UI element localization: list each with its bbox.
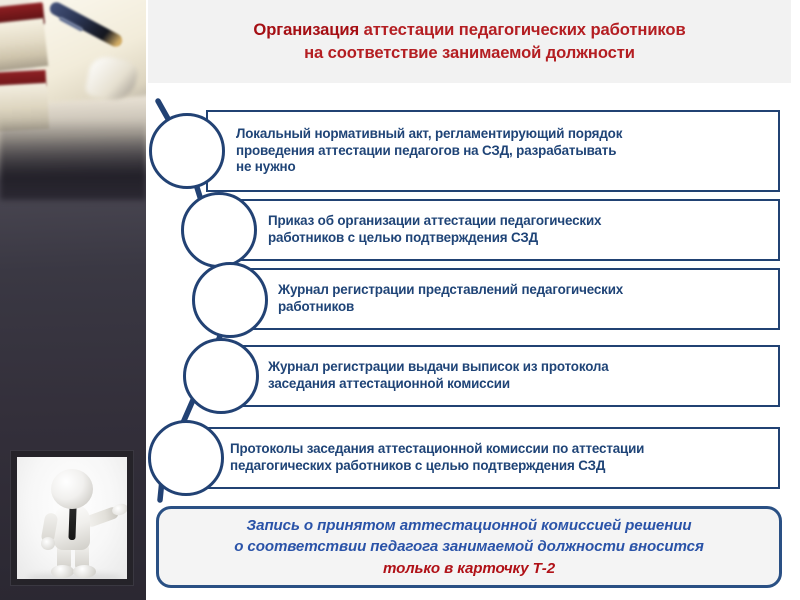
step-3-line-2: работников bbox=[278, 299, 623, 316]
footer-line-2: о соответствии педагога занимаемой должн… bbox=[234, 536, 704, 557]
step-text-1: Локальный нормативный акт, регламентирую… bbox=[236, 126, 622, 177]
step-box-3[interactable]: Журнал регистрации представлений педагог… bbox=[248, 268, 780, 330]
step-node-3[interactable] bbox=[192, 262, 268, 338]
figurine-image bbox=[17, 457, 127, 579]
desk-shadow-overlay bbox=[0, 120, 146, 200]
step-box-4[interactable]: Журнал регистрации выдачи выписок из про… bbox=[238, 345, 780, 407]
step-text-4: Журнал регистрации выдачи выписок из про… bbox=[268, 359, 609, 393]
title-band: Организация аттестации педагогических ра… bbox=[148, 0, 791, 83]
book-top-pages-photo bbox=[0, 18, 48, 74]
footer-callout-box[interactable]: Запись о принятом аттестационной комисси… bbox=[156, 506, 782, 588]
left-photo-strip bbox=[0, 0, 146, 600]
slide-root: Организация аттестации педагогических ра… bbox=[0, 0, 800, 600]
footer-line-1: Запись о принятом аттестационной комисси… bbox=[247, 515, 692, 536]
step-box-5[interactable]: Протоколы заседания аттестационной комис… bbox=[206, 427, 780, 489]
step-2-line-2: работников с целью подтверждения СЗД bbox=[268, 230, 601, 247]
title-emphasis: Организация bbox=[253, 20, 359, 39]
step-text-3: Журнал регистрации представлений педагог… bbox=[278, 282, 623, 316]
figurine-card bbox=[10, 450, 134, 586]
step-2-line-1: Приказ об организации аттестации педагог… bbox=[268, 213, 601, 230]
title-line-2: на соответствие занимаемой должности bbox=[253, 42, 685, 64]
figurine-necktie bbox=[68, 507, 76, 540]
step-5-line-1: Протоколы заседания аттестационной комис… bbox=[230, 441, 644, 458]
step-1-line-3: не нужно bbox=[236, 159, 622, 176]
step-1-line-1: Локальный нормативный акт, регламентирую… bbox=[236, 126, 622, 143]
step-node-4[interactable] bbox=[183, 338, 259, 414]
figurine-right-foot bbox=[73, 565, 96, 578]
step-node-5[interactable] bbox=[148, 420, 224, 496]
step-node-2[interactable] bbox=[181, 192, 257, 268]
step-1-line-2: проведения аттестации педагогов на СЗД, … bbox=[236, 143, 622, 160]
step-box-1[interactable]: Локальный нормативный акт, регламентирую… bbox=[206, 110, 780, 192]
title-rest: аттестации педагогических работников bbox=[359, 20, 685, 39]
step-box-2[interactable]: Приказ об организации аттестации педагог… bbox=[238, 199, 780, 261]
figurine-left-foot bbox=[51, 565, 74, 578]
step-5-line-2: педагогических работников с целью подтве… bbox=[230, 458, 644, 475]
step-3-line-1: Журнал регистрации представлений педагог… bbox=[278, 282, 623, 299]
step-text-2: Приказ об организации аттестации педагог… bbox=[268, 213, 601, 247]
figurine-head bbox=[51, 469, 93, 509]
footer-accent-line: только в карточку Т-2 bbox=[383, 558, 555, 579]
step-4-line-2: заседания аттестационной комиссии bbox=[268, 376, 609, 393]
step-text-5: Протоколы заседания аттестационной комис… bbox=[230, 441, 644, 475]
step-node-1[interactable] bbox=[149, 113, 225, 189]
page-title: Организация аттестации педагогических ра… bbox=[243, 19, 695, 63]
step-4-line-1: Журнал регистрации выдачи выписок из про… bbox=[268, 359, 609, 376]
figurine-left-hand bbox=[41, 537, 55, 550]
